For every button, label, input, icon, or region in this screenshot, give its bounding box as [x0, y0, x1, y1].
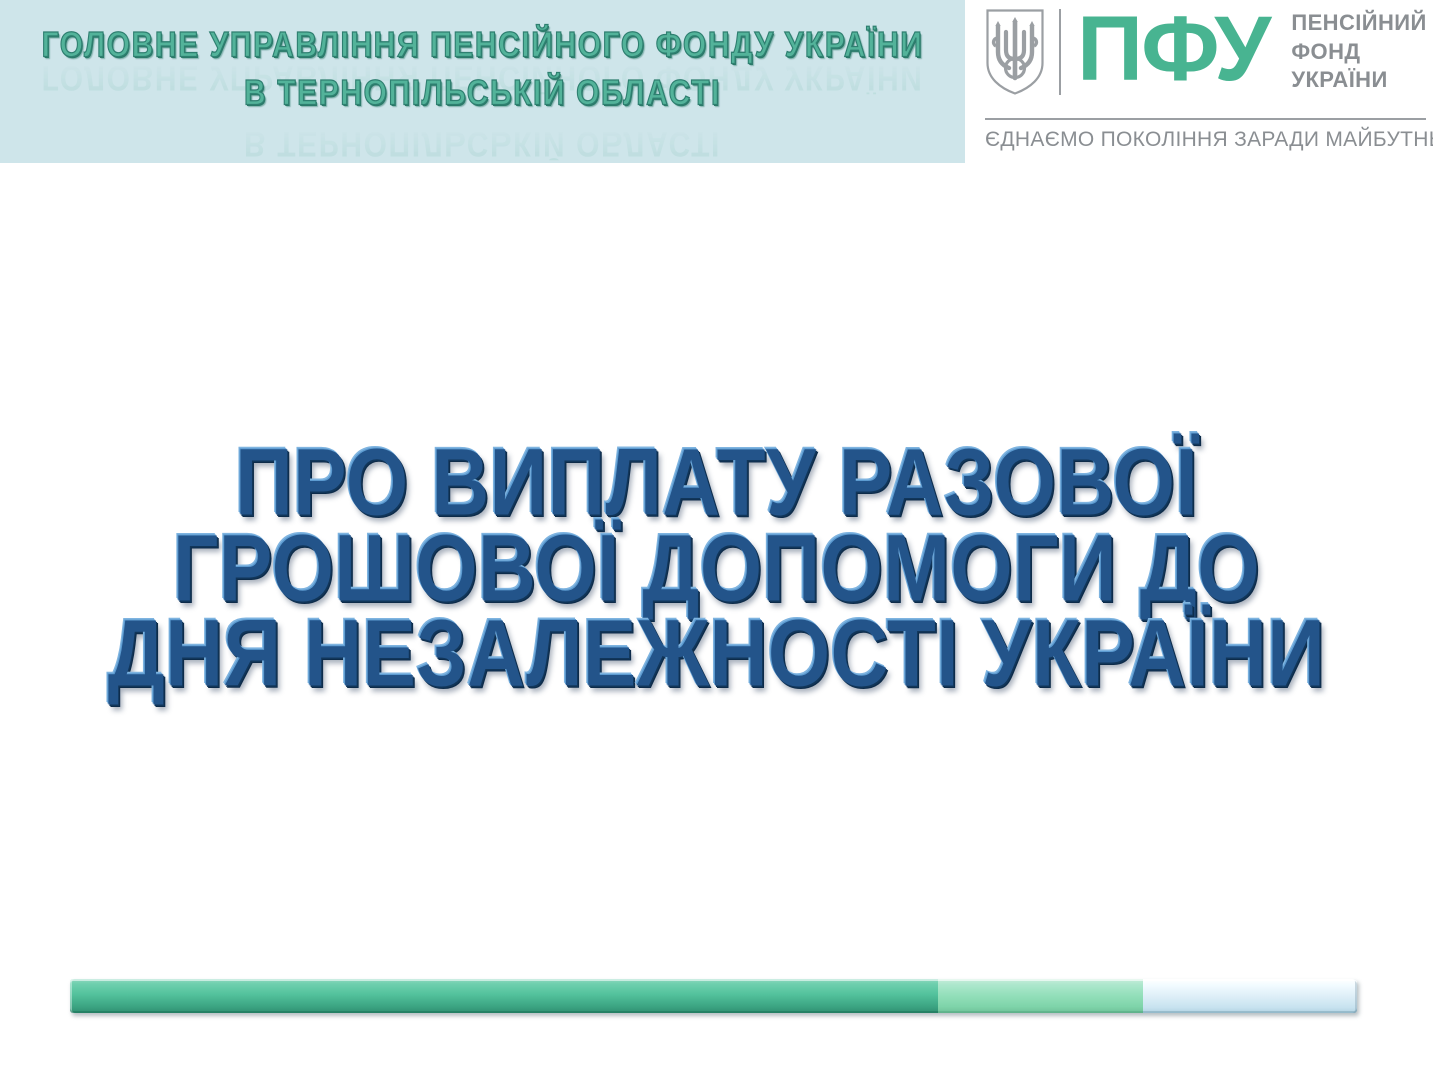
org-title-line-2: В ТЕРНОПІЛЬСЬКІЙ ОБЛАСТІ	[0, 74, 965, 114]
pfu-wordmark: ПФУ	[1077, 12, 1269, 87]
logo-row: ПФУ ПЕНСІЙНИЙ ФОНД УКРАЇНИ	[985, 6, 1427, 98]
footer-bar-segment-pale-blue	[1143, 979, 1357, 1013]
header-band: ГОЛОВНЕ УПРАВЛІННЯ ПЕНСІЙНОГО ФОНДУ УКРА…	[0, 0, 965, 163]
org-title-line-2-reflection: В ТЕРНОПІЛЬСЬКІЙ ОБЛАСТІ	[0, 125, 965, 160]
org-title: ГОЛОВНЕ УПРАВЛІННЯ ПЕНСІЙНОГО ФОНДУ УКРА…	[0, 26, 965, 108]
pfu-name-line-3: УКРАЇНИ	[1291, 66, 1426, 95]
ukraine-trident-coat-of-arms-icon	[985, 8, 1045, 96]
logo-divider	[1059, 9, 1061, 95]
footer-bar-segment-light-green	[938, 979, 1143, 1013]
pfu-name-line-2: ФОНД	[1291, 38, 1426, 67]
footer-bar-segment-green	[70, 979, 938, 1013]
pfu-name-line-1: ПЕНСІЙНИЙ	[1291, 9, 1426, 38]
pfu-logo-block: ПФУ ПЕНСІЙНИЙ ФОНД УКРАЇНИ ЄДНАЄМО ПОКОЛ…	[985, 0, 1433, 163]
logo-horizontal-rule	[985, 118, 1426, 120]
footer-decorative-bar	[70, 979, 1357, 1013]
logo-tagline: ЄДНАЄМО ПОКОЛІННЯ ЗАРАДИ МАЙБУТНЬОГО	[985, 128, 1426, 152]
org-title-line-1: ГОЛОВНЕ УПРАВЛІННЯ ПЕНСІЙНОГО ФОНДУ УКРА…	[0, 26, 965, 66]
slide-title: ПРО ВИПЛАТУ РАЗОВОЇ ГРОШОВОЇ ДОПОМОГИ ДО…	[0, 432, 1433, 689]
pfu-full-name: ПЕНСІЙНИЙ ФОНД УКРАЇНИ	[1291, 9, 1426, 95]
slide-title-line-3: ДНЯ НЕЗАЛЕЖНОСТІ УКРАЇНИ	[0, 603, 1433, 704]
